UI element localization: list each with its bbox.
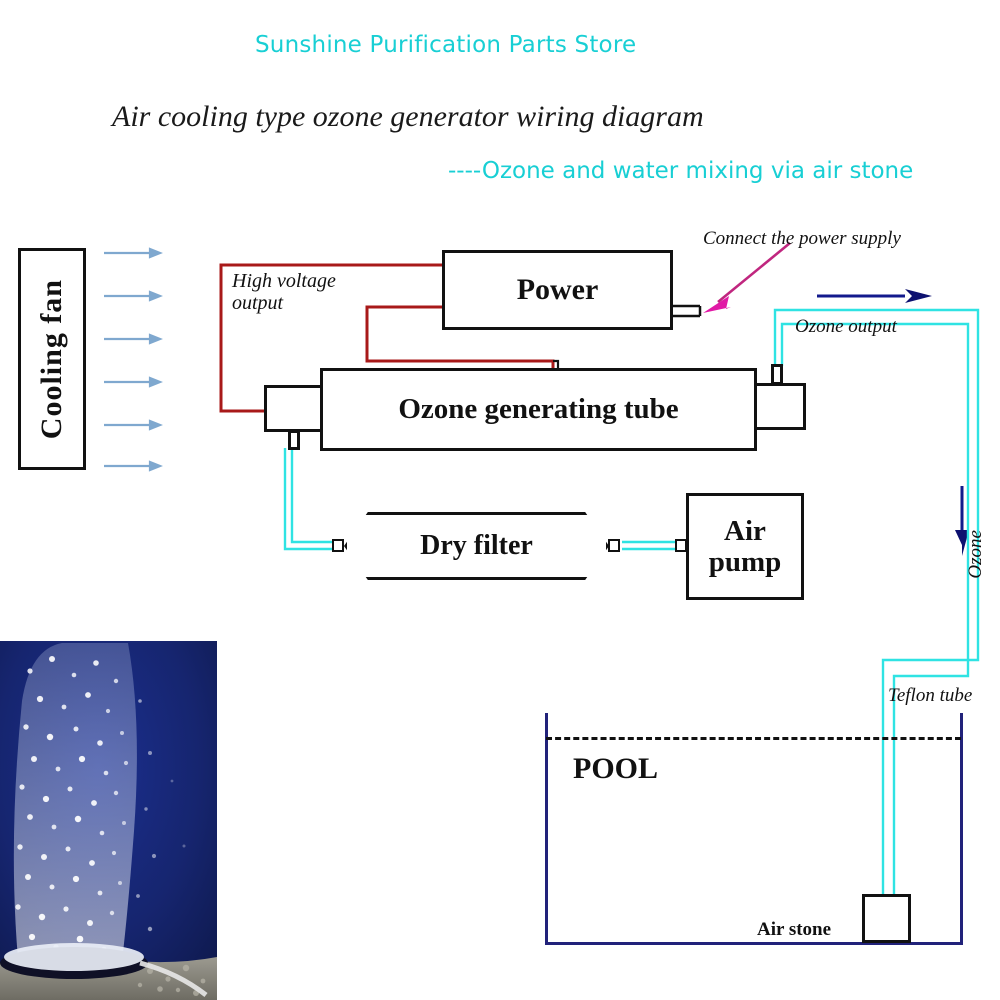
ozone-flow-annotation: Ozone [965,530,987,579]
teflon-tube-annotation: Teflon tube [888,685,972,707]
air-stone-box [862,894,911,943]
cooling-fan-label: Cooling fan [36,279,68,439]
ozone-tube-label: Ozone generating tube [398,394,678,424]
diagram-canvas: Sunshine Purification Parts Store Air co… [0,0,1000,1000]
ozone-tube-left-cap [264,385,324,432]
ozone-tube-right-cap [754,383,806,430]
power-cord-leads [673,306,700,316]
dry-filter-box: Dry filter [344,512,609,580]
tube-pump-to-filter [622,542,675,549]
high-voltage-output-annotation: High voltage output [232,270,336,315]
connect-power-pointer [703,243,790,313]
ozone-output-annotation: Ozone output [795,316,897,338]
page-title-store: Sunshine Purification Parts Store [255,32,636,58]
cooling-fan-box: Cooling fan [18,248,86,470]
power-supply-box: Power [442,250,673,330]
bubbles-illustration [0,641,217,1000]
pool-waterline [546,737,961,740]
air-pump-box: Air pump [686,493,804,600]
dry-filter-outlet-port [608,539,620,552]
fan-airflow-arrows [104,249,160,470]
ozone-generating-tube-box: Ozone generating tube [320,368,757,451]
pool-label: POOL [573,752,658,786]
ozone-flow-arrow-horizontal [817,289,932,303]
connect-power-supply-annotation: Connect the power supply [703,228,901,250]
dry-filter-inlet-port [332,539,344,552]
air-stone-label: Air stone [757,919,831,941]
air-stone-bubbles-photo [0,641,217,1000]
dry-filter-shape: Dry filter [344,512,609,580]
page-subtitle: ----Ozone and water mixing via air stone [448,158,913,184]
ozone-tube-air-inlet-nipple [288,430,300,450]
tube-filter-to-tube-in [285,448,332,549]
power-label: Power [517,274,599,306]
ozone-tube-ozone-outlet-nipple [771,364,783,385]
page-title-main: Air cooling type ozone generator wiring … [112,100,704,134]
air-pump-outlet-port [675,539,687,552]
dry-filter-label: Dry filter [420,531,533,560]
air-pump-label: Air pump [709,516,782,577]
